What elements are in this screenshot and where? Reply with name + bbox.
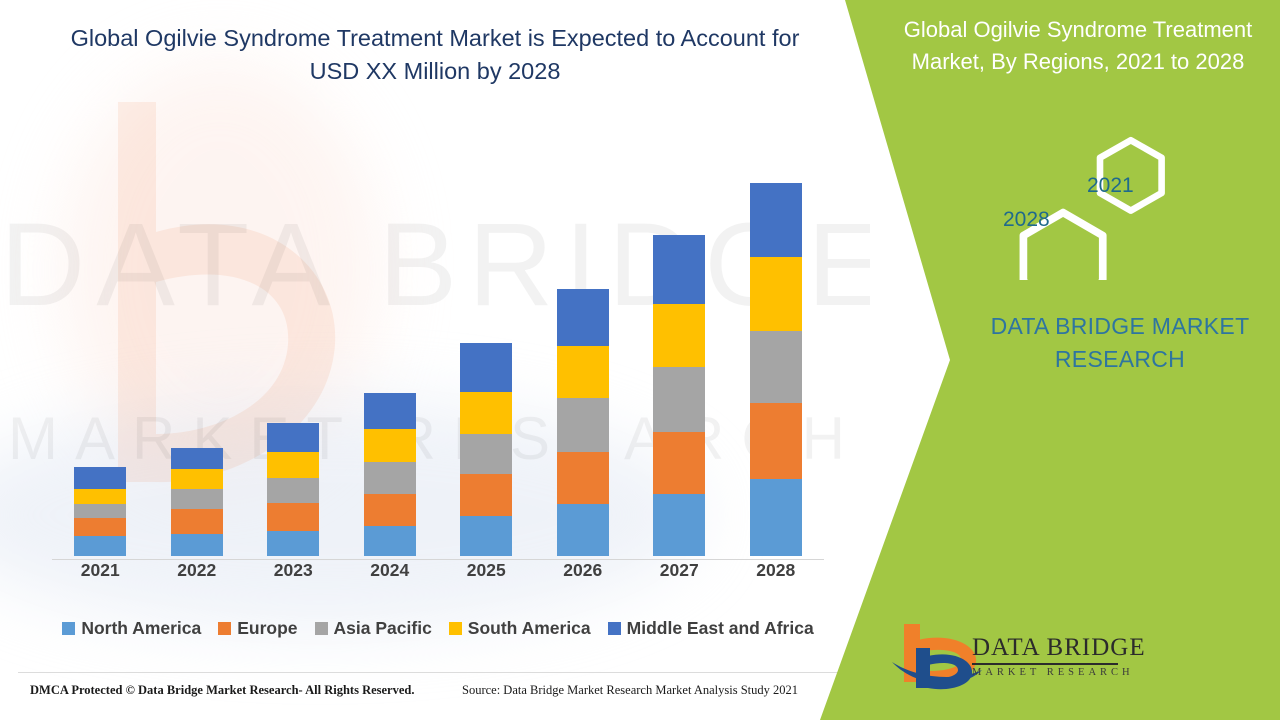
legend-label: North America xyxy=(81,618,201,639)
bar-segment xyxy=(267,503,319,531)
brand-name-text: DATA BRIDGE MARKET RESEARCH xyxy=(960,310,1280,377)
bar-segment xyxy=(267,531,319,556)
logo-secondary-text: MARKET RESEARCH xyxy=(972,667,1122,678)
bar-segment xyxy=(460,434,512,474)
legend-item[interactable]: South America xyxy=(449,618,591,639)
bar-segment xyxy=(557,452,609,504)
chart-panel: DATA BRIDGE MARKET RESEARCH Global Ogilv… xyxy=(0,0,870,720)
logo-underline xyxy=(972,663,1118,665)
bar-2022 xyxy=(171,448,223,556)
chart-title: Global Ogilvie Syndrome Treatment Market… xyxy=(60,22,810,89)
x-axis-label-2024: 2024 xyxy=(355,560,425,581)
legend-label: Middle East and Africa xyxy=(627,618,814,639)
footer-divider xyxy=(18,672,842,673)
bar-segment xyxy=(750,403,802,479)
bar-segment xyxy=(74,518,126,536)
logo-wordmark: DATA BRIDGE MARKET RESEARCH xyxy=(972,634,1122,678)
logo-primary-text: DATA BRIDGE xyxy=(972,634,1122,662)
x-axis-label-2026: 2026 xyxy=(548,560,618,581)
bar-segment xyxy=(557,398,609,452)
x-axis-label-2021: 2021 xyxy=(65,560,135,581)
x-axis-label-2027: 2027 xyxy=(644,560,714,581)
x-axis-label-2023: 2023 xyxy=(258,560,328,581)
bar-segment xyxy=(364,462,416,494)
bar-segment xyxy=(364,393,416,429)
plot-area xyxy=(52,140,824,557)
bar-2023 xyxy=(267,423,319,556)
bar-segment xyxy=(364,526,416,556)
bar-2024 xyxy=(364,393,416,556)
x-axis-label-2022: 2022 xyxy=(162,560,232,581)
legend-swatch-icon xyxy=(449,622,462,635)
bar-segment xyxy=(74,467,126,489)
bar-segment xyxy=(460,392,512,434)
bar-segment xyxy=(74,489,126,504)
hexagon-2028-label: 2028 xyxy=(1003,208,1050,232)
bar-segment xyxy=(267,423,319,452)
x-axis-label-2028: 2028 xyxy=(741,560,811,581)
bar-2021 xyxy=(74,467,126,556)
bar-2025 xyxy=(460,343,512,556)
bar-segment xyxy=(460,343,512,392)
bar-segment xyxy=(653,494,705,556)
x-axis-labels: 20212022202320242025202620272028 xyxy=(52,560,824,594)
bar-segment xyxy=(364,429,416,462)
stacked-bar-chart xyxy=(52,140,824,560)
legend-item[interactable]: Asia Pacific xyxy=(315,618,432,639)
legend-swatch-icon xyxy=(315,622,328,635)
bar-segment xyxy=(653,432,705,494)
legend-swatch-icon xyxy=(608,622,621,635)
legend-item[interactable]: Middle East and Africa xyxy=(608,618,814,639)
bar-segment xyxy=(364,494,416,526)
bar-segment xyxy=(74,536,126,556)
bar-segment xyxy=(267,452,319,478)
bar-segment xyxy=(171,469,223,489)
bar-segment xyxy=(557,504,609,556)
bar-segment xyxy=(460,474,512,516)
bar-segment xyxy=(653,367,705,432)
legend-item[interactable]: North America xyxy=(62,618,201,639)
infographic-canvas: DATA BRIDGE MARKET RESEARCH Global Ogilv… xyxy=(0,0,1280,720)
bar-segment xyxy=(171,534,223,556)
brand-panel-title: Global Ogilvie Syndrome Treatment Market… xyxy=(880,14,1276,78)
legend-item[interactable]: Europe xyxy=(218,618,297,639)
bar-segment xyxy=(653,304,705,367)
legend-swatch-icon xyxy=(62,622,75,635)
bar-segment xyxy=(74,504,126,518)
legend-label: South America xyxy=(468,618,591,639)
bar-segment xyxy=(171,509,223,534)
bar-segment xyxy=(750,257,802,331)
hexagon-2021-label: 2021 xyxy=(1087,174,1134,198)
bar-segment xyxy=(460,516,512,556)
bar-segment xyxy=(171,448,223,469)
legend-swatch-icon xyxy=(218,622,231,635)
chart-legend: North AmericaEuropeAsia PacificSouth Ame… xyxy=(52,614,824,642)
bar-2027 xyxy=(653,235,705,556)
bar-segment xyxy=(750,479,802,556)
legend-label: Asia Pacific xyxy=(334,618,432,639)
x-axis-label-2025: 2025 xyxy=(451,560,521,581)
bar-2026 xyxy=(557,289,609,556)
bar-segment xyxy=(557,289,609,346)
hexagon-group: 2021 2028 xyxy=(975,135,1190,280)
bar-segment xyxy=(750,331,802,403)
bar-2028 xyxy=(750,183,802,556)
legend-label: Europe xyxy=(237,618,297,639)
bar-segment xyxy=(557,346,609,398)
footer-dmca-text: DMCA Protected © Data Bridge Market Rese… xyxy=(30,683,415,698)
bar-segment xyxy=(171,489,223,509)
bar-segment xyxy=(653,235,705,304)
bar-segment xyxy=(750,183,802,257)
bar-segment xyxy=(267,478,319,503)
footer-source-text: Source: Data Bridge Market Research Mark… xyxy=(462,683,798,698)
